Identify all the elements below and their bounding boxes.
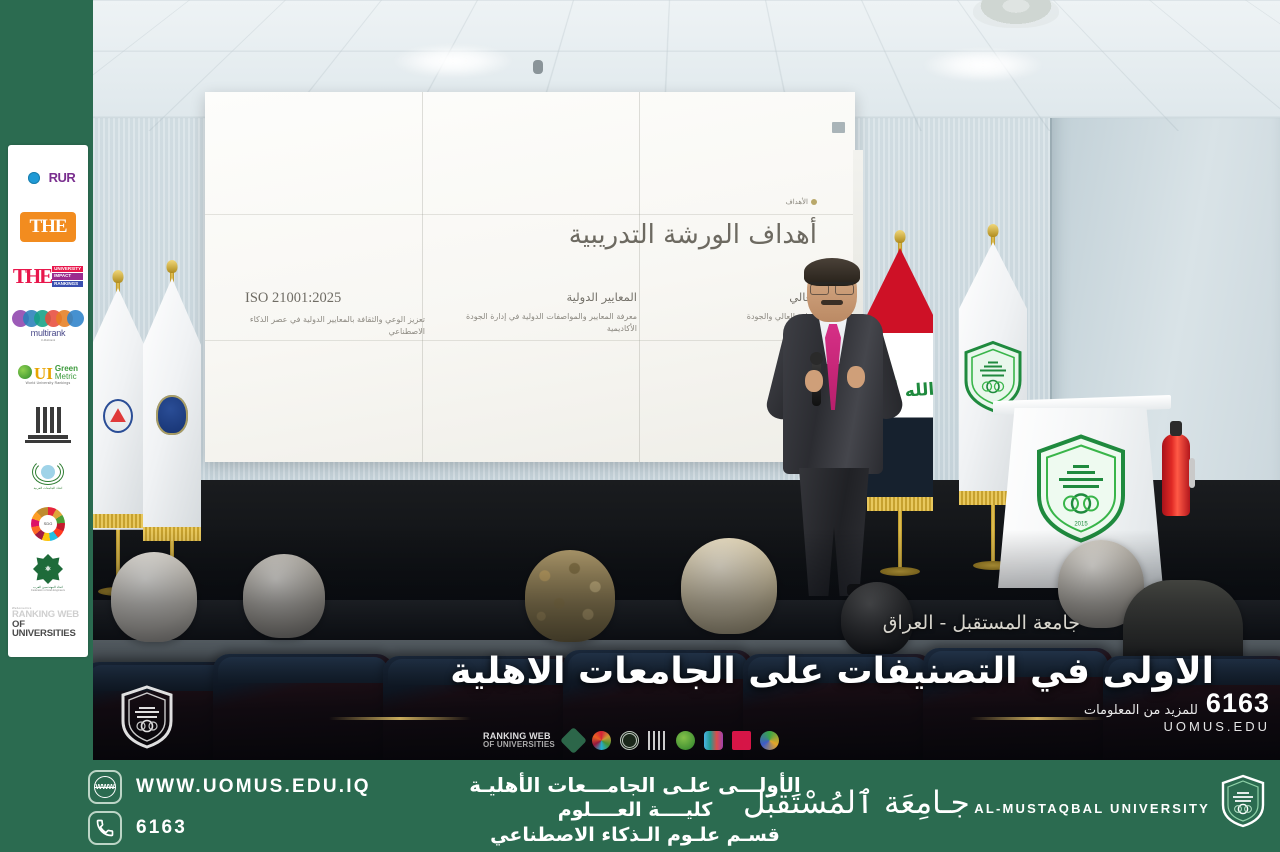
footer-university-brand: جـامِعَة ٱلمُسْتَقبَل AL-MUSTAQBAL UNIVE… [743,774,1266,833]
overlay-headline: الاولى في التصنيفات على الجامعات الاهلية [450,651,1214,692]
footer-contact-group: WWW WWW.UOMUS.EDU.IQ 6163 [88,770,371,852]
phone-icon [88,811,122,845]
the-logo-icon: THE [12,202,84,251]
scimago-mini-icon [560,727,587,754]
the-impact-line-2: IMPACT [52,273,83,280]
leaf-icon [18,365,32,379]
overlay-divider-left [329,717,471,720]
arab-universities-mini-icon [620,731,639,750]
slide-column-1-body: تعزيز الوعي والثقافة بالمعايير الدولية ف… [245,314,425,339]
greenmetric-metric: Metric [55,373,78,381]
arab-engineers-label-en: Federation of Arab Engineers [31,589,65,592]
ui-label: UI [34,366,53,381]
footer-phone-row[interactable]: 6163 [88,811,371,845]
webometrics-line-2: OF UNIVERSITIES [12,620,84,639]
ceiling-fan-icon [973,0,1059,28]
scimago-logo-icon [12,400,84,449]
security-camera-icon [533,60,543,74]
arab-universities-logo-icon: اتحاد الجامعات العربية [12,449,84,498]
overlay-website: UOMUS.EDU [1084,719,1270,734]
the-impact-label: THE [13,264,51,289]
webometrics-logo-icon: Webometrics RANKING WEB OF UNIVERSITIES [12,598,84,647]
the-impact-mini-icon [732,731,751,750]
the-impact-rankings-logo-icon: THE UNIVERSITY IMPACT RANKINGS [12,252,84,301]
multirank-mini-icon [704,731,723,750]
slide-column-2: المعايير الدولية معرفة المعايير والمواصف… [457,290,637,336]
greenmetric-caption: World University Rankings [26,381,71,385]
ui-greenmetric-mini-icon [676,731,695,750]
university-shield-icon [1220,774,1266,828]
sdg-wheel-icon: SDG [12,499,84,548]
arab-universities-label: اتحاد الجامعات العربية [34,486,63,490]
slide-kicker: الأهداف [785,198,817,206]
slide-column-2-body: معرفة المعايير والمواصفات الدولية في إدا… [457,311,637,336]
the-label: THE [20,212,75,242]
multirank-sub: U-Multirank [41,338,55,342]
temple-mini-icon [648,731,667,750]
the-impact-line-3: RANKINGS [52,281,83,288]
overlay-shield-logo [119,685,175,754]
the-impact-line-1: UNIVERSITY [52,266,83,273]
slide-column-1: ISO 21001:2025 تعزيز الوعي والثقافة بالم… [245,290,425,339]
overlay-subtitle: جامعة المستقبل - العراق [883,612,1080,634]
eyeglasses-icon [810,282,854,292]
slide-title: أهداف الورشة التدريبية [569,220,817,250]
overlay-more-info: للمزيد من المعلومات [1084,704,1198,719]
flag-emblem-ministry [103,399,133,433]
rur-mini-icon [760,731,779,750]
slide-column-1-heading: ISO 21001:2025 [245,290,425,307]
overlay-contact-block: 6163 للمزيد من المعلومات UOMUS.EDU [1084,688,1270,734]
flag-emblem-university [156,395,188,435]
conference-hall-photo: الأهداف أهداف الورشة التدريبية ISO 21001… [93,0,1280,760]
sdg-hub-label: SDG [39,515,57,533]
ceiling-light-left [393,44,513,78]
footer-website-text: WWW.UOMUS.EDU.IQ [136,776,371,798]
ceiling-light-right [923,48,1043,82]
page-footer: WWW WWW.UOMUS.EDU.IQ 6163 الأولـــى علـى… [0,760,1280,852]
svg-text:2015: 2015 [1074,521,1088,527]
projection-screen: الأهداف أهداف الورشة التدريبية ISO 21001… [205,92,855,462]
screen-corner-badge-icon [832,122,845,133]
university-shield-icon [119,685,175,749]
footer-phone-text: 6163 [136,817,187,839]
overlay-phone: 6163 [1206,688,1270,719]
university-rankings-logo-strip: RUR THE THE UNIVERSITY IMPACT RANKINGS m… [8,145,88,657]
rur-logo-icon: RUR [12,153,84,202]
ui-greenmetric-logo-icon: UI Green Metric World University Ranking… [12,351,84,400]
sdg-mini-icon [592,731,611,750]
overlay-ranking-logos: RANKING WEB OF UNIVERSITIES [483,731,779,750]
overlay-webometrics-line-2: OF UNIVERSITIES [483,741,555,749]
footer-website-row[interactable]: WWW WWW.UOMUS.EDU.IQ [88,770,371,804]
footer-shield-logo [1220,774,1266,833]
footer-university-name-ar: جـامِعَة ٱلمُسْتَقبَل [743,785,970,821]
footer-university-name-en: AL-MUSTAQBAL UNIVERSITY [974,801,1210,816]
rur-label: RUR [49,170,76,185]
arab-engineers-logo-icon: ⚛ اتحاد المهندسين العرب Federation of Ar… [12,548,84,597]
multirank-logo-icon: multirank U-Multirank [12,301,84,350]
slide-column-2-heading: المعايير الدولية [457,290,637,304]
multirank-label: multirank [31,328,66,338]
fire-extinguisher-icon [1162,434,1190,516]
globe-icon: WWW [88,770,122,804]
university-shield-icon: 2015 [1033,433,1129,543]
